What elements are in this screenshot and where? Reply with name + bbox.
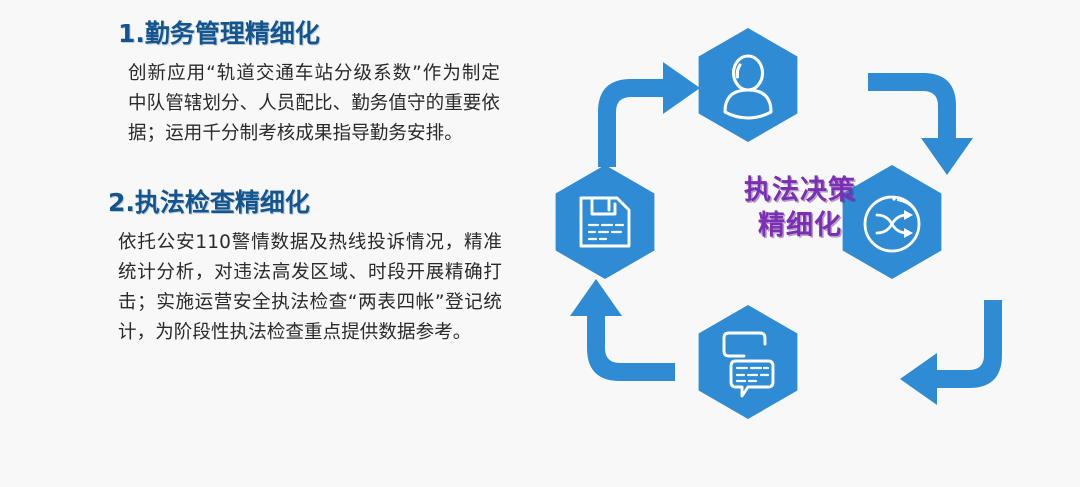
section-two-heading: 2.执法检查精细化 xyxy=(108,187,518,218)
top-left-arrow xyxy=(598,62,700,167)
section-two: 2.执法检查精细化 依托公安110警情数据及热线投诉情况，精准统计分析，对违法高… xyxy=(118,187,518,348)
hex-node-top[interactable] xyxy=(699,28,798,142)
section-one-body: 创新应用“轨道交通车站分级系数”作为制定中队管辖划分、人员配比、勤务值守的重要依… xyxy=(118,59,500,149)
section-two-body: 依托公安110警情数据及热线投诉情况，精准统计分析，对违法高发区域、时段开展精确… xyxy=(118,228,502,348)
hex-node-right[interactable] xyxy=(843,165,942,279)
section-one-heading: 1.勤务管理精细化 xyxy=(118,18,518,49)
bottom-left-arrow xyxy=(570,279,675,381)
slide-canvas: 1.勤务管理精细化 创新应用“轨道交通车站分级系数”作为制定中队管辖划分、人员配… xyxy=(0,0,1080,487)
cycle-diagram: 执法决策 精细化 xyxy=(520,0,1080,487)
bottom-right-arrow xyxy=(900,300,1002,405)
top-right-arrow xyxy=(868,73,973,175)
hex-node-left[interactable] xyxy=(556,165,655,279)
cycle-diagram-svg xyxy=(520,0,1080,487)
text-column: 1.勤务管理精细化 创新应用“轨道交通车站分级系数”作为制定中队管辖划分、人员配… xyxy=(118,18,518,366)
section-one: 1.勤务管理精细化 创新应用“轨道交通车站分级系数”作为制定中队管辖划分、人员配… xyxy=(118,18,518,149)
hex-node-bottom[interactable] xyxy=(699,305,798,419)
